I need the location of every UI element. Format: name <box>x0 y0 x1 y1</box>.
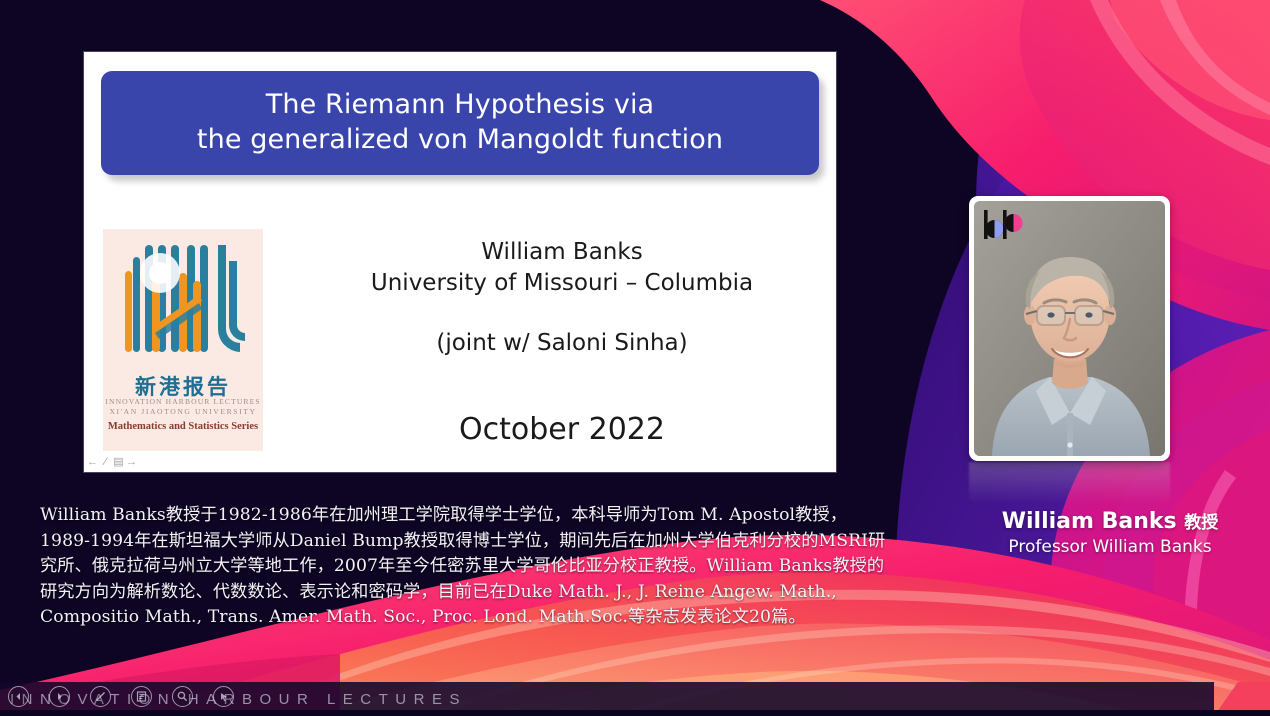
pointer-button[interactable] <box>213 686 234 707</box>
screen: The Riemann Hypothesis via the generaliz… <box>0 0 1270 716</box>
page-layout-button[interactable] <box>131 686 152 707</box>
slide-title: The Riemann Hypothesis via the generaliz… <box>197 88 723 157</box>
logo-english-line1: INNOVATION HARBOUR LECTURES <box>103 397 263 406</box>
beamer-navigation-bar[interactable]: ← ∕ ▤ → <box>87 456 137 469</box>
logo-english-line2: XI'AN JIAOTONG UNIVERSITY <box>103 407 263 416</box>
beamer-frame-icon[interactable]: ▤ <box>113 457 124 468</box>
bb-watermark-logo <box>981 208 1025 242</box>
previous-page-button[interactable] <box>8 686 29 707</box>
speaker-role: Professor William Banks <box>960 536 1260 558</box>
beamer-slash-icon[interactable]: ∕ <box>100 457 111 468</box>
no-drawing-button[interactable] <box>90 686 111 707</box>
logo-series-text: Mathematics and Statistics Series <box>103 421 263 432</box>
author-affiliation: University of Missouri – Columbia <box>352 268 772 299</box>
speaker-photo <box>974 201 1165 456</box>
photo-reflection <box>969 462 1170 504</box>
zoom-button[interactable] <box>172 686 193 707</box>
speaker-caption: William Banks 教授 Professor William Banks <box>960 508 1260 558</box>
speaker-photo-frame <box>969 196 1170 461</box>
next-page-button[interactable] <box>49 686 70 707</box>
speaker-name-suffix: 教授 <box>1184 513 1218 533</box>
speaker-name-line: William Banks 教授 <box>960 508 1260 536</box>
ihl-logo: 新港报告 INNOVATION HARBOUR LECTURES XI'AN J… <box>103 229 263 451</box>
slide-title-line1: The Riemann Hypothesis via <box>197 88 723 123</box>
slide-title-box: The Riemann Hypothesis via the generaliz… <box>101 71 819 175</box>
pdf-slide[interactable]: The Riemann Hypothesis via the generaliz… <box>84 52 836 472</box>
beamer-prev-icon[interactable]: ← <box>87 457 98 468</box>
slide-date: October 2022 <box>352 412 772 447</box>
speaker-name: William Banks <box>1002 509 1177 534</box>
pdf-viewer-controls[interactable] <box>8 686 234 707</box>
joint-work: (joint w/ Saloni Sinha) <box>352 330 772 356</box>
beamer-next-icon[interactable]: → <box>126 457 137 468</box>
speaker-bio: William Banks教授于1982-1986年在加州理工学院取得学士学位，… <box>40 503 896 631</box>
slide-title-line2: the generalized von Mangoldt function <box>197 123 723 158</box>
slide-authors: William Banks University of Missouri – C… <box>352 237 772 299</box>
author-name: William Banks <box>352 237 772 268</box>
